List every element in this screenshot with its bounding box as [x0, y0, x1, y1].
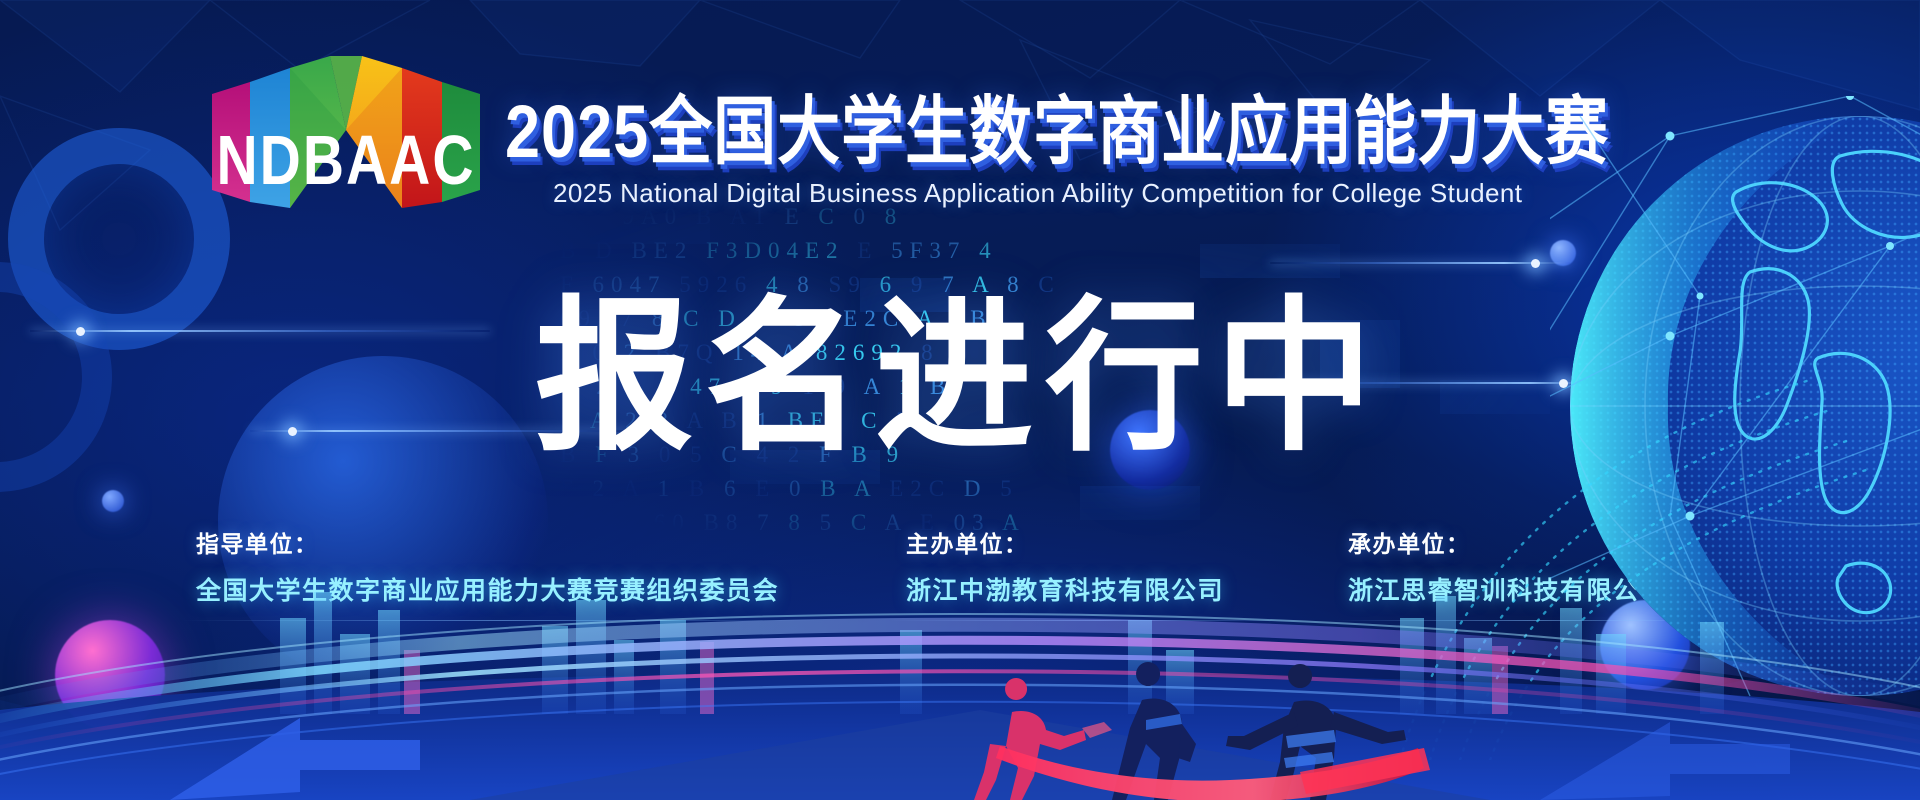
logo-wordmark: NDBAAC: [212, 121, 480, 202]
ndbaac-logo: NDBAAC: [212, 56, 480, 216]
promo-banner: 7 8 9A0 B A1 E C 0 8 B D BE2 F3D04E2 E 5…: [0, 0, 1920, 800]
runners-scene: [0, 500, 1920, 800]
page-subtitle: 2025 National Digital Business Applicati…: [553, 178, 1522, 209]
page-title: 2025全国大学生数字商业应用能力大赛: [505, 72, 1609, 179]
